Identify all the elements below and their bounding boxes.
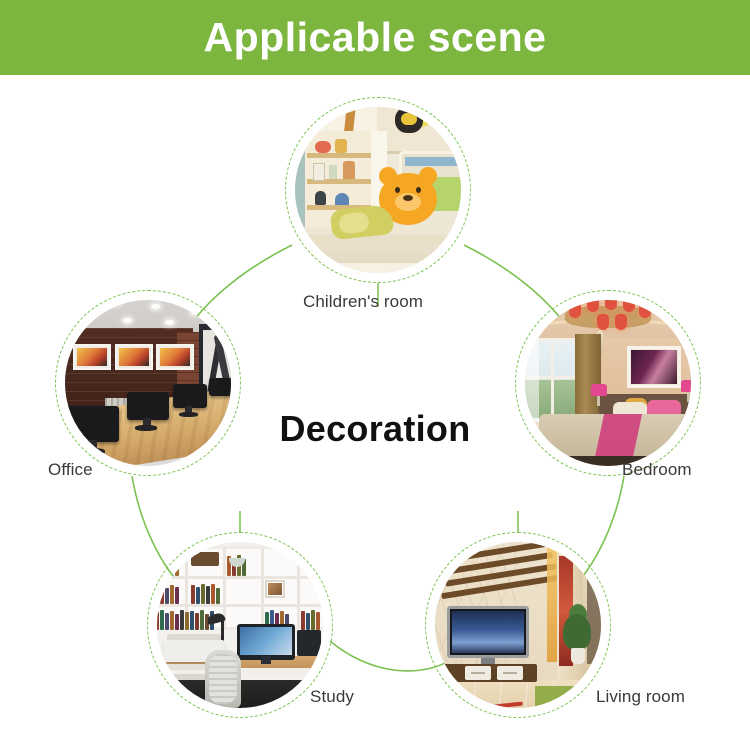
node-label-study: Study — [310, 687, 354, 707]
children-room-photo — [295, 107, 461, 273]
children-room-scene — [295, 107, 461, 273]
applicable-scene-page: Applicable scene — [0, 0, 750, 750]
node-label-children-room: Children's room — [303, 292, 423, 312]
node-label-living-room: Living room — [596, 687, 685, 707]
bedroom-scene — [525, 300, 691, 466]
node-label-bedroom: Bedroom — [622, 460, 692, 480]
study-scene — [157, 542, 323, 708]
living-room-photo — [435, 542, 601, 708]
node-label-office: Office — [48, 460, 93, 480]
office-photo — [65, 300, 231, 466]
node-living-room[interactable] — [425, 532, 611, 718]
header-banner: Applicable scene — [0, 0, 750, 75]
node-children-room[interactable] — [285, 97, 471, 283]
page-title: Applicable scene — [204, 17, 547, 58]
study-photo — [157, 542, 323, 708]
bedroom-photo — [525, 300, 691, 466]
living-room-scene — [435, 542, 601, 708]
scene-diagram: Decoration — [0, 75, 750, 750]
node-bedroom[interactable] — [515, 290, 701, 476]
node-study[interactable] — [147, 532, 333, 718]
office-scene — [65, 300, 231, 466]
node-office[interactable] — [55, 290, 241, 476]
